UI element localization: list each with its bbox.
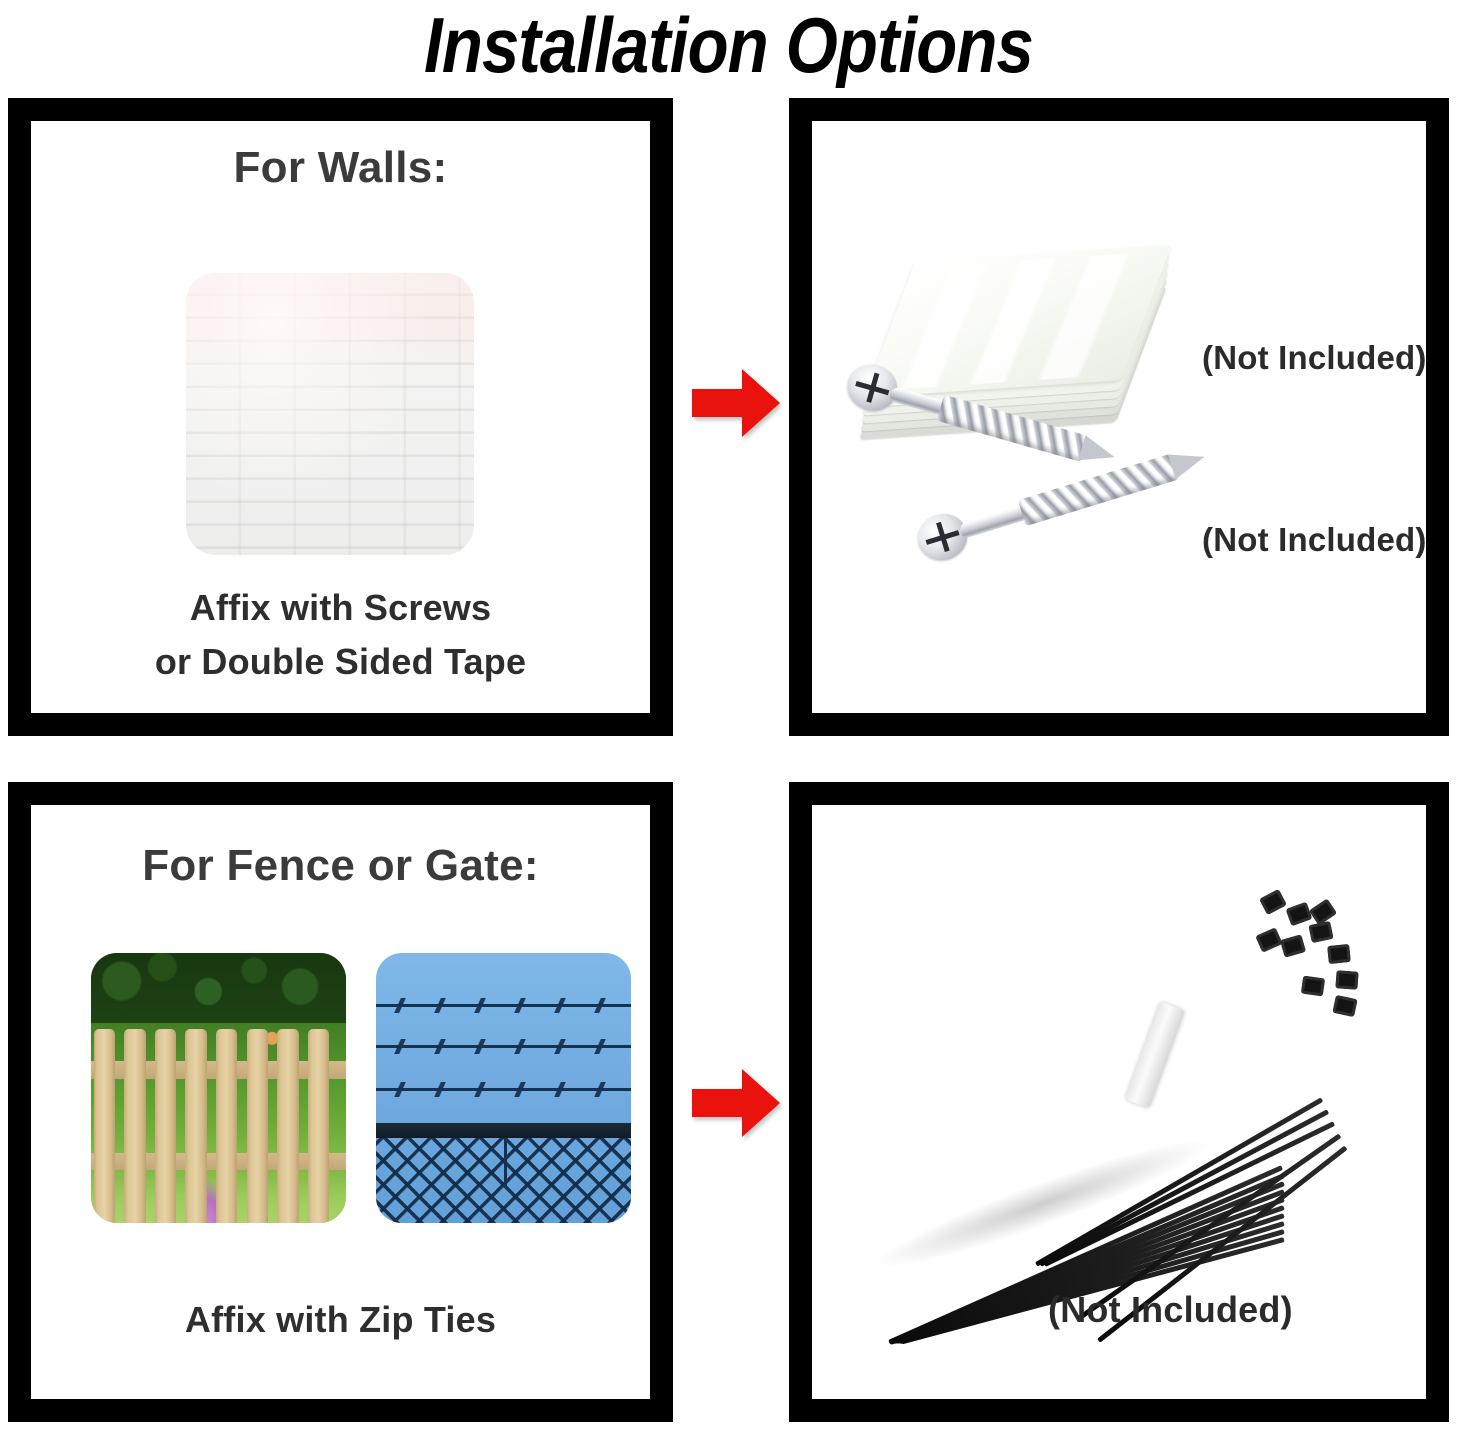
panel-zip-ties: (Not Included) bbox=[789, 782, 1449, 1422]
zip-tie-head bbox=[1335, 970, 1358, 989]
zip-tie-head bbox=[1280, 934, 1306, 957]
zip-tie-head bbox=[1327, 944, 1351, 964]
picket bbox=[216, 1029, 237, 1223]
for-fence-caption: Affix with Zip Ties bbox=[31, 1293, 650, 1347]
for-walls-heading: For Walls: bbox=[31, 143, 650, 193]
screw-threads bbox=[1018, 454, 1179, 527]
barbed-wire-strand bbox=[376, 1088, 631, 1091]
painted-brick-wall-swatch bbox=[186, 273, 474, 555]
picket-slats bbox=[91, 953, 346, 1223]
panel-for-fence-or-gate: For Fence or Gate: bbox=[8, 782, 673, 1422]
installation-options-infographic: Installation Options For Walls: Affix wi… bbox=[0, 0, 1457, 1434]
zip-tie-head bbox=[1259, 889, 1287, 915]
zip-tie-head bbox=[1309, 898, 1337, 925]
screws-not-included-label: (Not Included) bbox=[1202, 521, 1426, 559]
zip-tie-head bbox=[1286, 902, 1313, 926]
picket bbox=[94, 1029, 115, 1223]
for-fence-heading: For Fence or Gate: bbox=[31, 841, 650, 891]
picket bbox=[247, 1029, 268, 1223]
panel-for-walls-content: For Walls: Affix with Screws or Double S… bbox=[31, 121, 650, 713]
zip-tie-head bbox=[1308, 921, 1333, 943]
for-walls-caption: Affix with Screws or Double Sided Tape bbox=[31, 581, 650, 689]
screw-tip bbox=[1168, 444, 1208, 479]
bundle-band bbox=[1125, 1002, 1185, 1109]
zip-tie-head bbox=[1332, 995, 1357, 1017]
page-title: Installation Options bbox=[102, 2, 1355, 88]
panel-for-walls: For Walls: Affix with Screws or Double S… bbox=[8, 98, 673, 736]
zip-tie-head bbox=[1301, 976, 1325, 997]
picket bbox=[277, 1029, 298, 1223]
picket bbox=[308, 1029, 329, 1223]
fence-top-rail bbox=[376, 1123, 631, 1138]
zip-tie-head bbox=[1255, 927, 1282, 952]
picket bbox=[155, 1029, 176, 1223]
for-walls-caption-line-2: or Double Sided Tape bbox=[31, 635, 650, 689]
tape-not-included-label: (Not Included) bbox=[1202, 339, 1426, 377]
barbed-wire-strand bbox=[376, 1045, 631, 1048]
picket bbox=[185, 1029, 206, 1223]
barbed-wire-strand bbox=[376, 1004, 631, 1007]
panel-hardware-content: (Not Included) bbox=[812, 121, 1426, 713]
wooden-picket-fence-photo bbox=[91, 953, 346, 1223]
chain-link-barbed-wire-fence-photo bbox=[376, 953, 631, 1223]
fence-post bbox=[504, 1138, 507, 1187]
zip-ties-not-included-label: (Not Included) bbox=[1048, 1289, 1293, 1331]
red-right-arrow-fence-to-zipties bbox=[690, 1065, 782, 1141]
for-walls-caption-line-1: Affix with Screws bbox=[31, 581, 650, 635]
panel-zip-ties-content: (Not Included) bbox=[812, 805, 1426, 1399]
picket bbox=[124, 1029, 145, 1223]
panel-hardware: (Not Included) bbox=[789, 98, 1449, 736]
black-zip-tie-bundle bbox=[842, 883, 1372, 1283]
screw-shaft bbox=[959, 504, 1030, 539]
panel-for-fence-content: For Fence or Gate: bbox=[31, 805, 650, 1399]
red-right-arrow-walls-to-hardware bbox=[690, 365, 782, 441]
